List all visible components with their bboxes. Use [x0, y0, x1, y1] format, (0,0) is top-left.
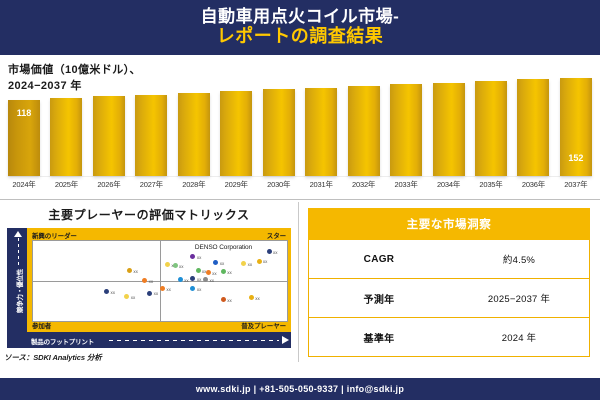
chart-bar [135, 95, 167, 176]
insights-row-value: 2024 年 [449, 330, 589, 344]
matrix-data-point-label: xx [248, 262, 253, 267]
footer-contact-text: www.sdki.jp | +81-505-050-9337 | info@sd… [196, 384, 404, 394]
page-title-line2: レポートの調査結果 [217, 26, 384, 48]
matrix-data-point-label: xx [110, 290, 115, 295]
matrix-data-point [267, 249, 272, 254]
matrix-data-point [190, 254, 195, 259]
player-matrix-card: 主要プレーヤーの評価マトリックス 競争力・優位性 新興のリーダー スター 参加者… [0, 200, 298, 378]
chart-bar-item: 118 [8, 68, 40, 176]
page-header: 自動車用点火コイル市場- レポートの調査結果 [0, 0, 600, 55]
chart-bar [178, 93, 210, 176]
matrix-data-point-label: xx [197, 277, 202, 282]
bottom-section: 主要プレーヤーの評価マトリックス 競争力・優位性 新興のリーダー スター 参加者… [0, 200, 600, 378]
chart-bar [305, 88, 337, 176]
matrix-horizontal-divider [33, 281, 287, 282]
chart-bars: 118152 [8, 68, 592, 176]
chart-bar-item [517, 68, 549, 176]
matrix-x-axis-label: 製品のフットプリント [31, 336, 94, 346]
matrix-data-point [221, 269, 226, 274]
matrix-data-point-label: xx [212, 271, 217, 276]
matrix-data-point [165, 262, 170, 267]
chart-x-label: 2033年 [390, 179, 422, 190]
matrix-data-point [190, 286, 195, 291]
chart-bar [348, 86, 380, 176]
chart-x-label: 2024年 [8, 179, 40, 190]
source-note: ソース：SDKI Analytics 分析 [4, 352, 102, 363]
insights-row-key: 基準年 [309, 330, 449, 345]
chart-bar [50, 98, 82, 176]
chart-baseline [8, 176, 592, 177]
chart-bar [517, 79, 549, 176]
matrix-y-axis: 競争力・優位性 [10, 230, 26, 332]
chart-x-label: 2031年 [305, 179, 337, 190]
chart-bar [93, 96, 125, 176]
chart-x-label: 2027年 [135, 179, 167, 190]
page-footer: www.sdki.jp | +81-505-050-9337 | info@sd… [0, 378, 600, 400]
matrix-data-point [206, 270, 211, 275]
matrix-data-point [196, 268, 201, 273]
matrix-y-axis-label: 競争力・優位性 [14, 264, 24, 318]
chart-bar-item [305, 68, 337, 176]
quadrant-label-top-right: スター [267, 230, 286, 240]
page-title-line1: 自動車用点火コイル市場- [201, 7, 400, 27]
matrix-data-point-label: xx [154, 291, 159, 296]
matrix-data-point-label: xx [197, 255, 202, 260]
matrix-data-point-label: xx [263, 259, 268, 264]
insights-row-key: CAGR [309, 254, 449, 265]
matrix-data-point [213, 260, 218, 265]
matrix-data-point-label: xx [184, 278, 189, 283]
matrix-data-point-label: xx [149, 279, 154, 284]
matrix-data-point [173, 263, 178, 268]
matrix-frame: 競争力・優位性 新興のリーダー スター 参加者 普及プレーヤー DENSO Co… [7, 228, 291, 348]
matrix-data-point [127, 268, 132, 273]
chart-bar-item [475, 68, 507, 176]
matrix-data-point [241, 261, 246, 266]
chart-bar-item [178, 68, 210, 176]
section-divider [298, 202, 299, 362]
chart-bar [263, 89, 295, 176]
matrix-scatter-plot: DENSO Corporation xxxxxxxxxxxxxxxxxxxxxx… [32, 240, 288, 322]
chart-bar-item [263, 68, 295, 176]
insights-table-header: 主要な市場洞察 [308, 208, 590, 240]
chart-x-label: 2029年 [220, 179, 252, 190]
matrix-data-point-label: xx [133, 269, 138, 274]
key-market-insights-table: 主要な市場洞察 CAGR約4.5%予測年2025−2037 年基準年2024 年 [308, 208, 590, 356]
chart-x-label: 2032年 [348, 179, 380, 190]
market-value-chart-panel: 市場価値（10億米ドル）、2024−2037 年 118152 2024年202… [0, 55, 600, 200]
report-infographic: 自動車用点火コイル市場- レポートの調査結果 市場価値（10億米ドル）、2024… [0, 0, 600, 400]
chart-x-label: 2035年 [475, 179, 507, 190]
matrix-data-point-label: xx [179, 264, 184, 269]
chart-bar [433, 83, 465, 176]
matrix-quadrant-backdrop: 新興のリーダー スター 参加者 普及プレーヤー DENSO Corporatio… [27, 228, 291, 332]
matrix-data-point [257, 259, 262, 264]
insights-row: CAGR約4.5% [308, 240, 590, 279]
matrix-data-point [221, 297, 226, 302]
chart-bar-item [433, 68, 465, 176]
matrix-data-point-label: xx [131, 295, 136, 300]
matrix-data-point [147, 291, 152, 296]
matrix-data-point [124, 294, 129, 299]
chart-x-label: 2025年 [50, 179, 82, 190]
matrix-data-point-label: xx [227, 298, 232, 303]
matrix-data-point-label: xx [197, 287, 202, 292]
matrix-data-point-label: xx [220, 261, 225, 266]
matrix-data-point [142, 278, 147, 283]
matrix-data-point-label: xx [166, 287, 171, 292]
insights-row: 基準年2024 年 [308, 318, 590, 357]
insights-row-value: 約4.5% [449, 252, 589, 266]
insights-table-body: CAGR約4.5%予測年2025−2037 年基準年2024 年 [308, 240, 590, 357]
matrix-data-point-label: xx [210, 278, 215, 283]
chart-bar: 152 [560, 78, 592, 176]
chart-bar-value-label: 118 [8, 108, 40, 118]
insights-row-key: 予測年 [309, 291, 449, 306]
chart-bar-item [135, 68, 167, 176]
chart-x-label: 2028年 [178, 179, 210, 190]
chart-x-label: 2034年 [433, 179, 465, 190]
chart-x-label: 2037年 [560, 179, 592, 190]
quadrant-label-top-left: 新興のリーダー [32, 230, 77, 240]
chart-bar-item: 152 [560, 68, 592, 176]
matrix-data-point [104, 289, 109, 294]
matrix-data-point-label: xx [273, 250, 278, 255]
chart-bar [390, 84, 422, 176]
matrix-x-axis: 製品のフットプリント [27, 332, 291, 348]
chart-bar: 118 [8, 100, 40, 176]
chart-x-label: 2036年 [517, 179, 549, 190]
matrix-data-point [160, 286, 165, 291]
chart-bar-value-label: 152 [560, 153, 592, 163]
chart-bar [475, 81, 507, 176]
chart-bar-item [348, 68, 380, 176]
chart-x-label: 2030年 [263, 179, 295, 190]
matrix-highlight-label: DENSO Corporation [165, 244, 282, 251]
matrix-data-point [249, 295, 254, 300]
x-axis-dash-line [109, 340, 279, 341]
insights-row: 予測年2025−2037 年 [308, 279, 590, 318]
chart-plot-area: 118152 2024年2025年2026年2027年2028年2029年203… [4, 65, 596, 199]
x-axis-arrow-icon [282, 336, 289, 344]
matrix-data-point-label: xx [227, 270, 232, 275]
matrix-data-point [178, 277, 183, 282]
chart-bar-item [220, 68, 252, 176]
chart-x-axis-labels: 2024年2025年2026年2027年2028年2029年2030年2031年… [8, 179, 592, 194]
matrix-title: 主要プレーヤーの評価マトリックス [0, 200, 298, 223]
chart-bar-item [50, 68, 82, 176]
y-axis-arrow-icon [14, 231, 22, 237]
chart-bar-item [93, 68, 125, 176]
chart-bar-item [390, 68, 422, 176]
insights-row-value: 2025−2037 年 [449, 291, 589, 305]
chart-bar [220, 91, 252, 176]
chart-x-label: 2026年 [93, 179, 125, 190]
matrix-data-point-label: xx [255, 296, 260, 301]
